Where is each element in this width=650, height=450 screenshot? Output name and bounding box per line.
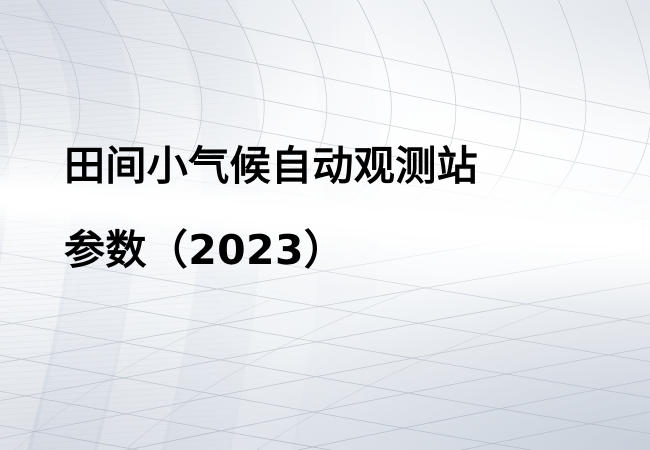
headline-line-2: 参数（2023） <box>64 208 604 292</box>
banner-headline: 田间小气候自动观测站 参数（2023） <box>64 124 604 292</box>
headline-line-1: 田间小气候自动观测站 <box>64 124 604 208</box>
banner-image: 田间小气候自动观测站 参数（2023） <box>0 0 650 450</box>
